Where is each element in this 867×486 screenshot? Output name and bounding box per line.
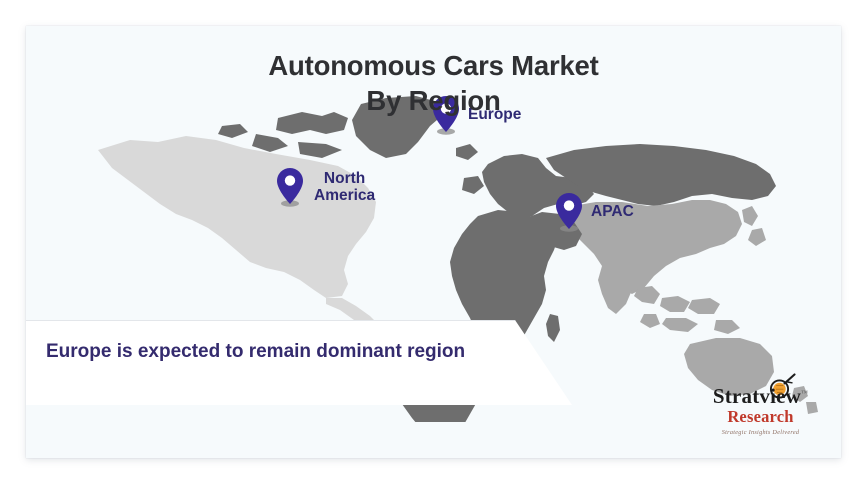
map-region-japan (742, 206, 766, 246)
map-region-north-america (98, 136, 376, 298)
map-region-madagascar (546, 314, 560, 342)
map-marker-label-north-america: North America (314, 170, 375, 205)
logo-subname: Research (698, 408, 823, 427)
logo-name-text: Stratview (713, 384, 801, 408)
logo-name: Stratview™ (698, 386, 823, 407)
map-marker-label-europe: Europe (468, 106, 521, 123)
map-marker-north-america[interactable]: North America (274, 166, 375, 208)
map-region-southeast-asia (634, 286, 740, 334)
slide-card: Autonomous Cars Market By Region Europe … (26, 26, 841, 458)
map-pin-icon (430, 94, 462, 136)
map-marker-label-apac: APAC (591, 203, 634, 220)
title-line-1: Autonomous Cars Market (26, 48, 841, 83)
map-region-iceland (456, 144, 478, 160)
logo-tagline: Strategic Insights Delivered (698, 429, 823, 436)
caption-text: Europe is expected to remain dominant re… (46, 339, 496, 364)
map-pin-icon (553, 191, 585, 233)
map-pin-icon (274, 166, 306, 208)
map-marker-europe[interactable]: Europe (430, 94, 521, 136)
stratview-research-logo[interactable]: Stratview™ Research Strategic Insights D… (698, 386, 823, 436)
caption-band: Europe is expected to remain dominant re… (26, 320, 586, 406)
map-marker-apac[interactable]: APAC (553, 191, 634, 233)
logo-trademark: ™ (801, 389, 808, 397)
